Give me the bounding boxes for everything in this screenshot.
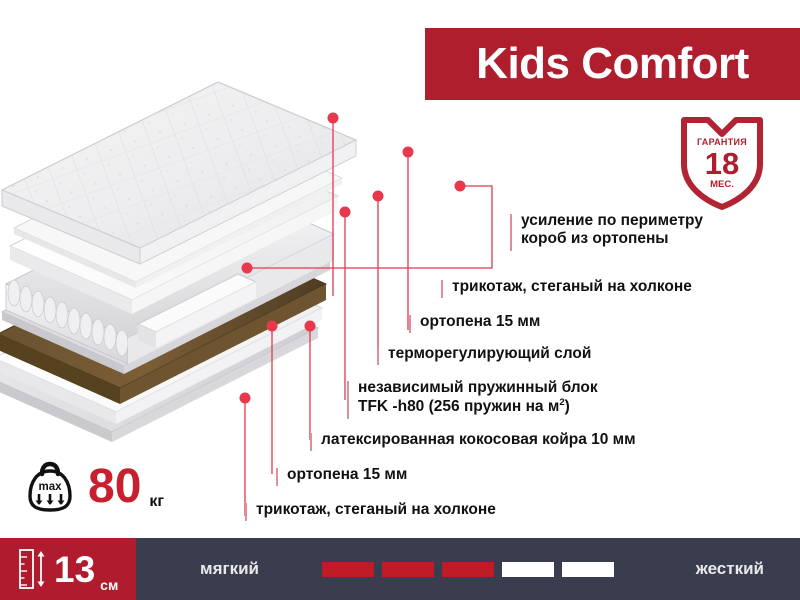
label-thermo-line1: терморегулирующий слой (388, 345, 591, 363)
label-knit-top-line1: трикотаж, стеганый на холконе (452, 278, 692, 296)
label-tick (377, 347, 379, 365)
bottom-bar: 13 см мягкий жесткий (0, 538, 800, 600)
label-ortofoam-bottom: ортопена 15 мм (287, 466, 407, 484)
label-knit-bottom: трикотаж, стеганый на холконе (256, 501, 496, 519)
label-tick (347, 381, 349, 419)
max-weight-unit: кг (149, 493, 164, 516)
firmness-segment (322, 562, 374, 577)
ruler-icon (18, 547, 48, 591)
height-value: 13 (54, 551, 95, 588)
height-block: 13 см (0, 538, 136, 600)
infographic-page: Kids Comfort ГАРАНТИЯ 18 МЕС. (0, 0, 800, 600)
kettlebell-max-text: max (38, 481, 62, 493)
firmness-segment (502, 562, 554, 577)
label-tick (276, 468, 278, 486)
label-knit-top: трикотаж, стеганый на холконе (452, 278, 692, 296)
label-spring-block-line2: TFK -h80 (256 пружин на м2) (358, 397, 598, 416)
label-perimeter: усиление по периметру короб из ортопены (521, 212, 703, 249)
label-tick (310, 433, 312, 451)
height-unit: см (100, 577, 118, 600)
label-coir-line1: латексированная кокосовая койра 10 мм (321, 431, 636, 449)
label-perimeter-line2: короб из ортопены (521, 230, 703, 248)
label-ortofoam-bottom-line1: ортопена 15 мм (287, 466, 407, 484)
firmness-scale: мягкий жесткий (136, 538, 800, 600)
firmness-hard-label: жесткий (696, 559, 764, 579)
label-perimeter-line1: усиление по периметру (521, 212, 703, 230)
firmness-soft-label: мягкий (200, 559, 259, 579)
firmness-segment (562, 562, 614, 577)
label-tick (510, 214, 512, 251)
warranty-badge: ГАРАНТИЯ 18 МЕС. (678, 112, 766, 210)
warranty-months: 18 (705, 148, 739, 179)
label-tick (441, 280, 443, 298)
spring-close-paren: ) (565, 398, 570, 415)
label-spring-block: независимый пружинный блок TFK -h80 (256… (358, 379, 598, 417)
label-ortofoam-top: ортопена 15 мм (420, 313, 540, 331)
firmness-segment (382, 562, 434, 577)
label-knit-bottom-line1: трикотаж, стеганый на холконе (256, 501, 496, 519)
label-tick (245, 503, 247, 521)
label-coir: латексированная кокосовая койра 10 мм (321, 431, 636, 449)
label-ortofoam-top-line1: ортопена 15 мм (420, 313, 540, 331)
firmness-segments (322, 562, 614, 577)
label-spring-block-line1: независимый пружинный блок (358, 379, 598, 397)
warranty-text-group: ГАРАНТИЯ 18 МЕС. (678, 112, 766, 210)
max-weight-value: 80 (88, 463, 141, 511)
firmness-segment (442, 562, 494, 577)
label-thermo: терморегулирующий слой (388, 345, 591, 363)
warranty-unit: МЕС. (710, 180, 734, 190)
label-tick (409, 315, 411, 333)
max-weight-badge: max 80 кг (24, 458, 164, 516)
kettlebell-icon: max (24, 458, 76, 516)
